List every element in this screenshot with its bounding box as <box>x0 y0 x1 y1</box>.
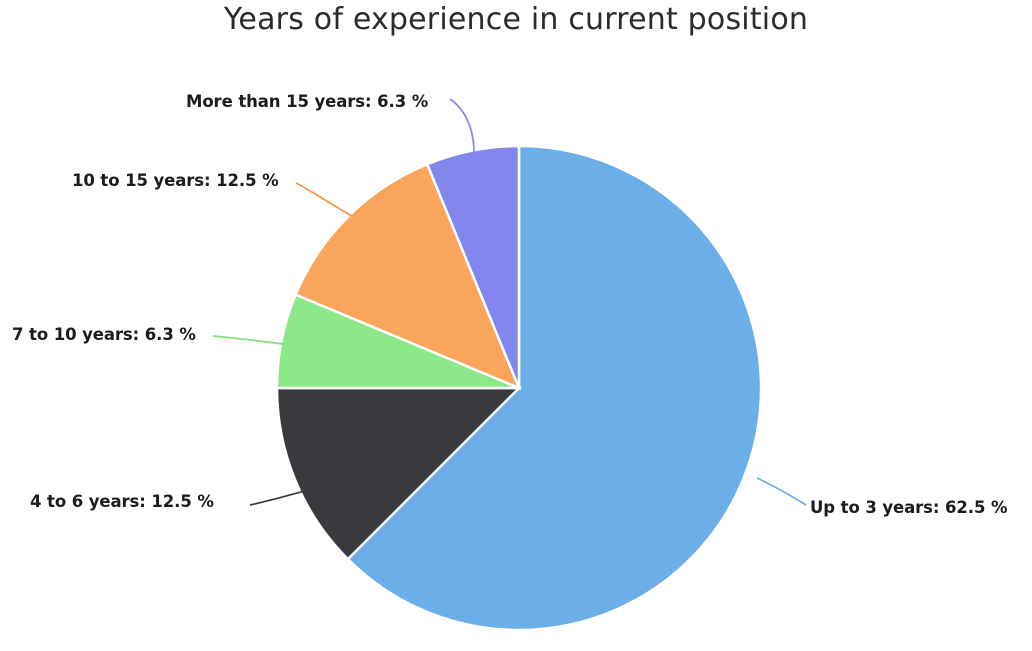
pie-label-up-to-3-years: Up to 3 years: 62.5 % <box>810 498 1007 517</box>
pie-label-7-to-10-years: 7 to 10 years: 6.3 % <box>12 325 196 344</box>
leader-line-up-to-3-years <box>757 478 806 505</box>
leader-line-7-to-10-years <box>213 336 283 344</box>
leader-line-more-than-15-years <box>450 99 474 153</box>
pie-chart-figure: Years of experience in current position … <box>0 0 1032 651</box>
pie-slices <box>277 146 761 630</box>
pie-label-4-to-6-years: 4 to 6 years: 12.5 % <box>30 492 214 511</box>
pie-label-10-to-15-years: 10 to 15 years: 12.5 % <box>72 171 279 190</box>
leader-line-10-to-15-years <box>296 183 352 216</box>
pie-label-more-than-15-years: More than 15 years: 6.3 % <box>186 92 428 111</box>
